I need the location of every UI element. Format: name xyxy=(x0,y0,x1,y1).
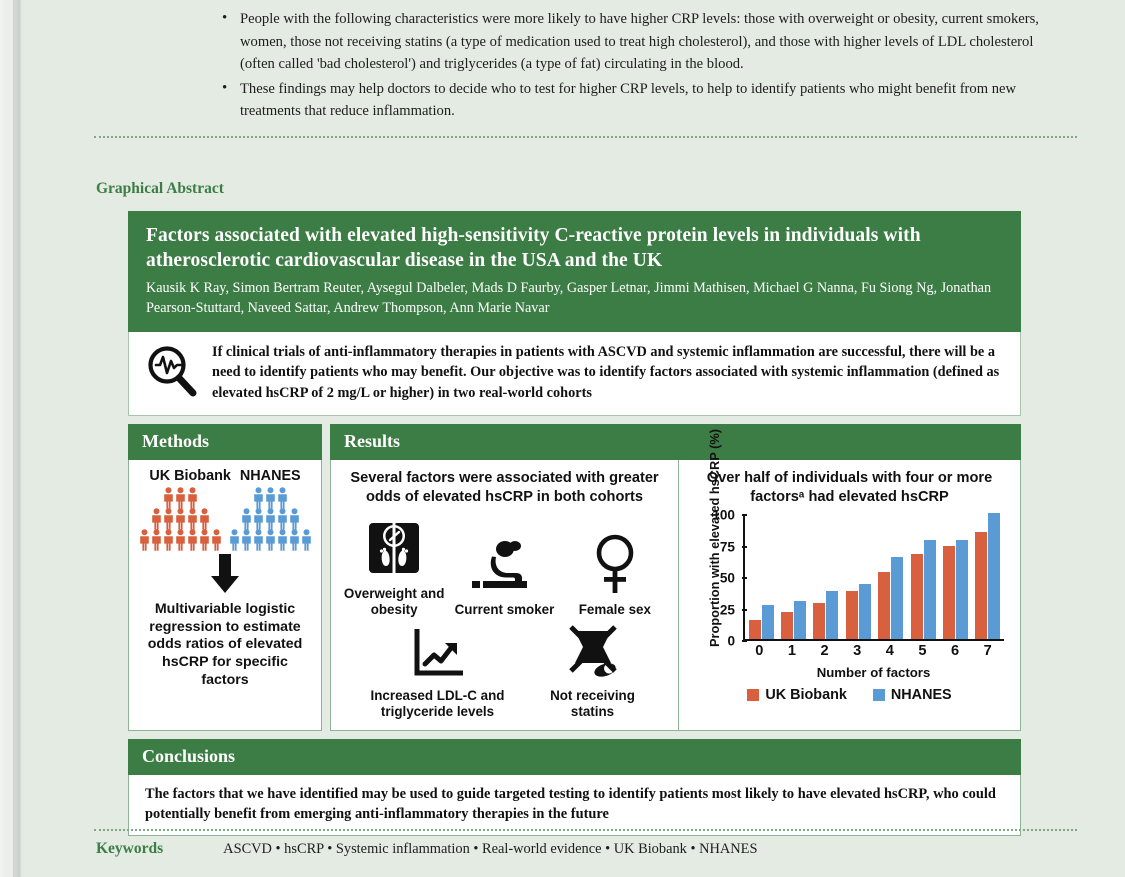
legend-label: UK Biobank xyxy=(765,687,847,703)
person-icon xyxy=(241,529,252,551)
chart-bar-group xyxy=(975,515,1000,639)
person-icon xyxy=(253,529,264,551)
rising-chart-icon xyxy=(407,625,469,681)
list-item: These findings may help doctors to decid… xyxy=(218,78,1058,123)
pyramid-row xyxy=(138,487,222,509)
chart-legend-item: NHANES xyxy=(873,687,952,703)
person-icon xyxy=(139,529,150,551)
factor-caption: Increased LDL-C and triglyceride levels xyxy=(363,688,513,719)
chart-bar xyxy=(943,546,955,639)
person-icon xyxy=(151,508,162,530)
divider-bottom xyxy=(94,829,1077,831)
chart-section: Over half of individuals with four or mo… xyxy=(679,460,1020,729)
person-icon xyxy=(163,529,174,551)
person-icon xyxy=(229,529,240,551)
person-icon xyxy=(199,508,210,530)
graphical-abstract-card: Factors associated with elevated high-se… xyxy=(128,211,1021,836)
person-icon xyxy=(253,508,264,530)
chart-y-tick-label: 75 xyxy=(720,539,735,554)
person-icon xyxy=(151,529,162,551)
chart-bar xyxy=(956,540,968,640)
conclusions-panel: Conclusions The factors that we have ide… xyxy=(128,739,1021,837)
chart-plot-area xyxy=(743,515,1004,641)
person-icon xyxy=(163,487,174,509)
chart-x-tick-label: 0 xyxy=(746,643,772,659)
person-icon xyxy=(241,508,252,530)
pyramid-row xyxy=(228,529,312,551)
chart-y-tick-label: 25 xyxy=(720,602,735,617)
chart-bar xyxy=(846,591,858,639)
person-icon xyxy=(163,508,174,530)
person-icon xyxy=(199,529,210,551)
chart-bar xyxy=(781,612,793,640)
conclusions-heading: Conclusions xyxy=(128,739,1021,775)
factor-female-sex: Female sex xyxy=(561,533,669,618)
chart-bar xyxy=(878,572,890,639)
person-icon xyxy=(187,487,198,509)
results-panel: Results Several factors were associated … xyxy=(330,424,1021,730)
methods-description: Multivariable logistic regression to est… xyxy=(135,601,315,689)
chart-x-tick-label: 1 xyxy=(779,643,805,659)
pyramid-row xyxy=(228,508,312,530)
person-icon xyxy=(277,508,288,530)
female-sex-icon xyxy=(592,533,638,595)
people-pyramid-nhanes xyxy=(228,487,312,550)
chart-x-tick-label: 7 xyxy=(975,643,1001,659)
person-icon xyxy=(265,529,276,551)
keywords-label: Keywords xyxy=(96,840,163,858)
chart-x-tick-label: 6 xyxy=(942,643,968,659)
people-pyramid-ukbiobank xyxy=(138,487,222,550)
person-icon xyxy=(211,529,222,551)
person-icon xyxy=(265,487,276,509)
chart-bar xyxy=(911,554,923,640)
divider-top xyxy=(94,136,1077,138)
chart-x-tick-label: 2 xyxy=(812,643,838,659)
person-icon xyxy=(289,508,300,530)
person-icon xyxy=(301,529,312,551)
chart-title: Over half of individuals with four or mo… xyxy=(689,469,1010,507)
chart-bar-group xyxy=(846,515,871,639)
panels-row: Methods UK Biobank NHANES xyxy=(128,424,1021,730)
person-icon xyxy=(187,508,198,530)
chart-bar-group xyxy=(878,515,903,639)
person-icon xyxy=(277,529,288,551)
legend-swatch xyxy=(873,689,885,701)
factor-overweight: Overweight and obesity xyxy=(340,517,448,617)
person-icon xyxy=(175,487,186,509)
chart-bar xyxy=(794,601,806,639)
chart-y-tick-label: 0 xyxy=(727,634,735,649)
page-title: Factors associated with elevated high-se… xyxy=(146,223,1003,273)
objective-block: If clinical trials of anti-inflammatory … xyxy=(128,332,1021,416)
results-heading: Results xyxy=(330,424,1021,460)
cohort-label-nhanes: NHANES xyxy=(240,468,301,484)
person-icon xyxy=(277,487,288,509)
down-arrow-icon xyxy=(208,554,242,599)
chart-x-tick-label: 3 xyxy=(844,643,870,659)
objective-text: If clinical trials of anti-inflammatory … xyxy=(212,342,1004,403)
bar-chart: Proportion with elevated hsCRP (%) 02550… xyxy=(689,515,1010,673)
factor-caption: Not receiving statins xyxy=(539,688,647,719)
legend-swatch xyxy=(747,689,759,701)
chart-x-tick-label: 4 xyxy=(877,643,903,659)
person-icon xyxy=(175,508,186,530)
chart-x-tick-label: 5 xyxy=(909,643,935,659)
chart-bar-group xyxy=(781,515,806,639)
factor-no-statins: Not receiving statins xyxy=(539,623,647,719)
pyramid-row xyxy=(138,529,222,551)
chart-bar xyxy=(813,603,825,640)
key-points-list: People with the following characteristic… xyxy=(218,8,1058,125)
results-factors-header: Several factors were associated with gre… xyxy=(339,469,670,507)
cohort-label-ukbiobank: UK Biobank xyxy=(149,468,231,484)
chart-y-ticks: 0255075100 xyxy=(711,515,741,641)
chart-bar xyxy=(749,620,761,639)
results-body: Several factors were associated with gre… xyxy=(330,460,1021,730)
person-icon xyxy=(253,487,264,509)
chart-bar-group xyxy=(943,515,968,639)
chart-bar xyxy=(891,557,903,639)
conclusions-text: The factors that we have identified may … xyxy=(128,775,1021,837)
chart-bar xyxy=(762,605,774,639)
chart-bar-group xyxy=(813,515,838,639)
no-statins-icon xyxy=(563,623,623,681)
article-title-block: Factors associated with elevated high-se… xyxy=(128,211,1021,332)
chart-bar xyxy=(988,513,1000,639)
chart-bar xyxy=(859,584,871,639)
person-icon xyxy=(289,529,300,551)
chart-legend-item: UK Biobank xyxy=(747,687,847,703)
chart-y-tick-label: 50 xyxy=(720,571,735,586)
factor-caption: Female sex xyxy=(561,602,669,618)
chart-bar xyxy=(924,540,936,640)
pyramid-row xyxy=(228,487,312,509)
methods-body: UK Biobank NHANES Multivariable logistic… xyxy=(128,460,322,730)
results-factors-section: Several factors were associated with gre… xyxy=(331,460,679,729)
chart-bar-group xyxy=(911,515,936,639)
methods-panel: Methods UK Biobank NHANES xyxy=(128,424,322,730)
article-page: Downloaded from https://academic.oup.com… xyxy=(22,0,1125,877)
page-scroll-gutter[interactable] xyxy=(0,0,22,877)
person-icon xyxy=(187,529,198,551)
pyramid-row xyxy=(138,508,222,530)
person-icon xyxy=(265,508,276,530)
chart-y-tick-label: 100 xyxy=(712,508,735,523)
keywords-row: Keywords ASCVD • hsCRP • Systemic inflam… xyxy=(96,840,757,858)
smoker-icon xyxy=(469,537,539,595)
scrollbar-track[interactable] xyxy=(5,0,14,877)
keywords-list: ASCVD • hsCRP • Systemic inflammation • … xyxy=(223,841,757,858)
list-item: People with the following characteristic… xyxy=(218,8,1058,76)
factor-ldl-triglycerides: Increased LDL-C and triglyceride levels xyxy=(363,625,513,719)
factor-caption: Overweight and obesity xyxy=(340,586,448,617)
chart-bar-group xyxy=(749,515,774,639)
magnifier-ecg-icon xyxy=(143,342,199,403)
author-list: Kausik K Ray, Simon Bertram Reuter, Ayse… xyxy=(146,279,1003,318)
chart-x-axis-label: Number of factors xyxy=(743,665,1004,680)
methods-heading: Methods xyxy=(128,424,322,460)
chart-x-ticks: 01234567 xyxy=(743,643,1004,659)
factor-smoker: Current smoker xyxy=(450,537,558,618)
chart-legend: UK BiobankNHANES xyxy=(689,687,1010,703)
legend-label: NHANES xyxy=(891,687,952,703)
person-icon xyxy=(175,529,186,551)
weight-scale-icon xyxy=(363,517,425,579)
factor-caption: Current smoker xyxy=(450,602,558,618)
chart-bar xyxy=(826,591,838,639)
graphical-abstract-label: Graphical Abstract xyxy=(96,180,224,198)
chart-bar xyxy=(975,532,987,639)
